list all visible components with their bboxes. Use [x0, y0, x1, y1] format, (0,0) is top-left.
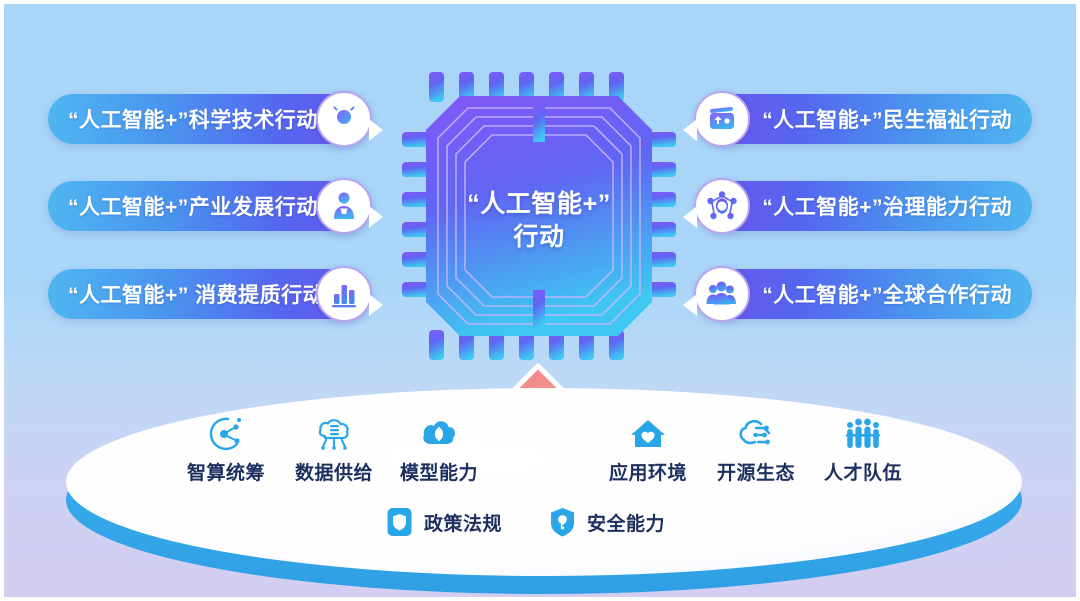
bar-chart-icon	[316, 266, 372, 322]
foundation-item-policy: 政策法规	[386, 507, 502, 537]
action-pill-label: “人工智能+”治理能力行动	[726, 191, 1012, 221]
wallet-icon	[694, 91, 750, 147]
policy-shield-icon	[386, 507, 413, 537]
industry-icon	[316, 178, 372, 234]
foundation-label: 应用环境	[593, 458, 703, 485]
action-pill-livelihood[interactable]: “人工智能+”民生福祉行动	[710, 94, 1032, 144]
action-pill-governance[interactable]: “人工智能+”治理能力行动	[710, 181, 1032, 231]
open-source-cloud-icon	[701, 412, 811, 456]
lightbulb-icon	[316, 91, 372, 147]
data-cloud-icon	[279, 412, 389, 456]
compute-network-icon	[171, 412, 281, 456]
foundation-item-talent: 人才队伍	[808, 412, 918, 485]
foundation-item-opensource: 开源生态	[701, 412, 811, 485]
foundation-item-security: 安全能力	[549, 507, 665, 537]
foundation-item-model: 模型能力	[384, 412, 494, 485]
gear-network-icon	[694, 178, 750, 234]
action-pill-label: “人工智能+”全球合作行动	[726, 279, 1012, 309]
foundation-item-data: 数据供给	[279, 412, 389, 485]
cpu-chip-icon	[402, 72, 676, 360]
foundation-item-compute: 智算统筹	[171, 412, 281, 485]
foundation-label: 安全能力	[587, 509, 665, 536]
foundation-label: 人才队伍	[808, 458, 918, 485]
foundation-item-environment: 应用环境	[593, 412, 703, 485]
central-chip: “人工智能+” 行动	[402, 72, 676, 360]
foundation-label: 智算统筹	[171, 458, 281, 485]
talent-people-icon	[808, 412, 918, 456]
security-shield-icon	[549, 507, 576, 537]
action-pill-label: “人工智能+”民生福祉行动	[726, 104, 1012, 134]
action-pill-global[interactable]: “人工智能+”全球合作行动	[710, 269, 1032, 319]
people-group-icon	[694, 266, 750, 322]
foundation-label: 开源生态	[701, 458, 811, 485]
action-pill-label: “人工智能+”科学技术行动	[68, 104, 354, 134]
foundation-label: 数据供给	[279, 458, 389, 485]
infographic-canvas: “人工智能+” 行动 “人工智能+”科学技术行动 “人工智能+”产业发展行动	[0, 0, 1080, 601]
action-pill-label: “人工智能+”产业发展行动	[68, 191, 354, 221]
foundation-label: 政策法规	[424, 509, 502, 536]
model-brain-cloud-icon	[384, 412, 494, 456]
foundation-label: 模型能力	[384, 458, 494, 485]
home-heart-icon	[593, 412, 703, 456]
